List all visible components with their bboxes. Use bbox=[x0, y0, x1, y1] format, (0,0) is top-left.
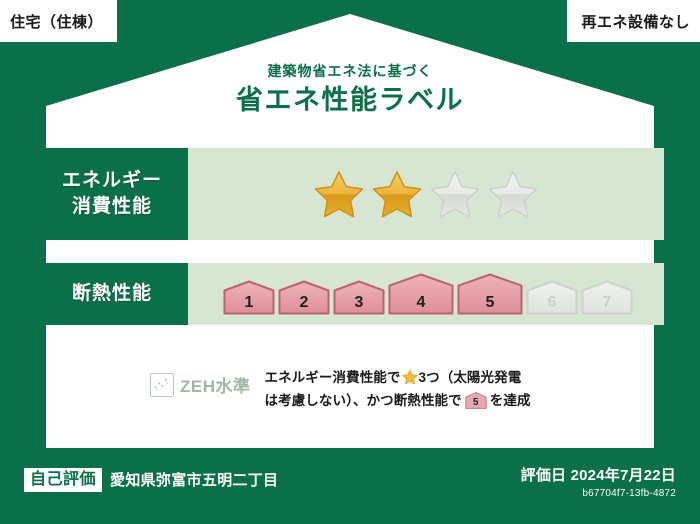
self-evaluation-badge: 自己評価 bbox=[24, 468, 102, 492]
star-filled-icon bbox=[314, 169, 364, 219]
insulation-level-inactive: 7 bbox=[581, 280, 633, 315]
zeh-description-line1: エネルギー消費性能で3つ（太陽光発電 bbox=[265, 366, 665, 389]
star-empty-icon bbox=[488, 169, 538, 219]
row-energy-label: エネルギー 消費性能 bbox=[36, 148, 188, 240]
zeh-desc-star-count: 3つ bbox=[419, 370, 440, 385]
zeh-description: エネルギー消費性能で3つ（太陽光発電 は考慮しない）、かつ断熱性能で5を達成 bbox=[265, 360, 665, 412]
insulation-level-number: 1 bbox=[223, 295, 275, 311]
row-energy-label-line2: 消費性能 bbox=[72, 194, 152, 220]
page-subtitle: 建築物省エネ法に基づく bbox=[0, 62, 700, 80]
insulation-level-scale: 1234567 bbox=[219, 273, 633, 315]
property-address: 愛知県弥富市五明二丁目 bbox=[110, 469, 278, 490]
insulation-level-active: 1 bbox=[223, 280, 275, 315]
insulation-level-active: 4 bbox=[388, 273, 454, 315]
tag-building-type-label: 住宅（住棟） bbox=[10, 11, 103, 32]
zeh-description-line2: は考慮しない）、かつ断熱性能で5を達成 bbox=[265, 389, 665, 412]
insulation-level-active: 2 bbox=[278, 280, 330, 315]
insulation-level-active: 3 bbox=[333, 280, 385, 315]
star-filled-icon bbox=[372, 169, 422, 219]
inline-house-level: 5 bbox=[465, 398, 487, 408]
row-insulation-label: 断熱性能 bbox=[36, 263, 188, 325]
row-insulation-performance: 断熱性能 1234567 bbox=[36, 263, 664, 325]
insulation-level-number: 2 bbox=[278, 295, 330, 311]
insulation-level-number: 4 bbox=[388, 295, 454, 311]
inline-star-icon bbox=[402, 369, 418, 385]
evaluation-date: 評価日 2024年7月22日 bbox=[521, 464, 676, 485]
tag-renewable-energy: 再エネ設備なし bbox=[567, 0, 700, 42]
zeh-badge: ZEH水準 bbox=[36, 360, 251, 397]
star-empty-icon bbox=[430, 169, 480, 219]
insulation-level-active: 5 bbox=[457, 273, 523, 315]
row-insulation-label-line1: 断熱性能 bbox=[72, 281, 152, 307]
zeh-square-icon bbox=[150, 373, 174, 397]
insulation-level-number: 7 bbox=[581, 295, 633, 311]
insulation-level-number: 5 bbox=[457, 295, 523, 311]
zeh-desc-text-4: を達成 bbox=[490, 393, 531, 408]
label-uuid: b67704f7-13fb-4872 bbox=[521, 488, 676, 499]
footer-right: 評価日 2024年7月22日 b67704f7-13fb-4872 bbox=[521, 464, 676, 499]
star-rating bbox=[314, 169, 538, 219]
row-energy-body bbox=[188, 148, 664, 240]
zeh-desc-text-3: は考慮しない）、かつ断熱性能で bbox=[265, 393, 462, 408]
footer: 自己評価 愛知県弥富市五明二丁目 評価日 2024年7月22日 b67704f7… bbox=[0, 448, 700, 524]
page-title-block: 建築物省エネ法に基づく 省エネ性能ラベル bbox=[0, 62, 700, 118]
insulation-level-number: 3 bbox=[333, 295, 385, 311]
tag-renewable-energy-label: 再エネ設備なし bbox=[581, 11, 690, 32]
footer-left: 自己評価 愛知県弥富市五明二丁目 bbox=[24, 468, 278, 492]
insulation-level-number: 6 bbox=[526, 295, 578, 311]
row-energy-label-line1: エネルギー bbox=[62, 168, 162, 194]
insulation-level-inactive: 6 bbox=[526, 280, 578, 315]
energy-label-poster: 住宅（住棟） 再エネ設備なし 建築物省エネ法に基づく 省エネ性能ラベル エネルギ… bbox=[0, 0, 700, 524]
zeh-section: ZEH水準 エネルギー消費性能で3つ（太陽光発電 は考慮しない）、かつ断熱性能で… bbox=[36, 360, 664, 412]
zeh-label: ZEH水準 bbox=[180, 372, 251, 397]
tag-building-type: 住宅（住棟） bbox=[0, 0, 117, 42]
zeh-desc-text-2: （太陽光発電 bbox=[440, 370, 522, 385]
row-insulation-body: 1234567 bbox=[188, 263, 664, 325]
zeh-desc-text-1: エネルギー消費性能で bbox=[265, 370, 401, 385]
row-energy-performance: エネルギー 消費性能 bbox=[36, 148, 664, 240]
inline-house-badge-icon: 5 bbox=[465, 392, 487, 409]
page-title: 省エネ性能ラベル bbox=[0, 84, 700, 118]
